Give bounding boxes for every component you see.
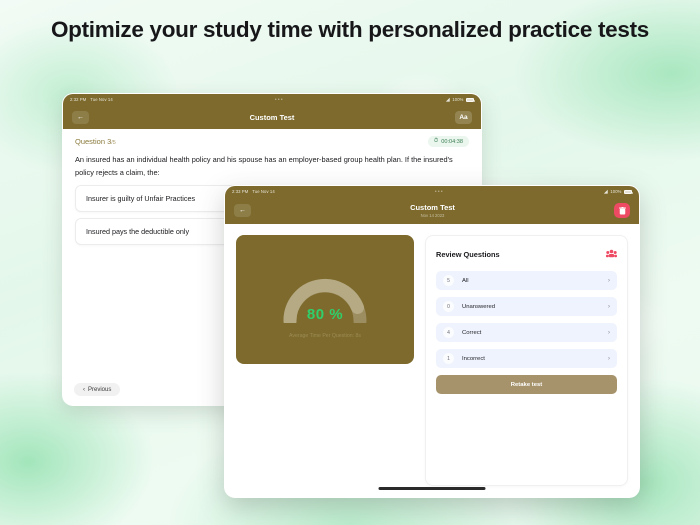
- question-counter-current: Question 3: [75, 137, 111, 146]
- status-bar-left: 2:33 PM Tue Nov 14: [232, 189, 275, 194]
- status-date: Tue Nov 14: [252, 189, 275, 194]
- question-navbar: ← Custom Test Aa: [63, 105, 481, 129]
- clock-icon: ⏱: [434, 138, 438, 145]
- battery-icon: [466, 98, 474, 102]
- review-row-correct[interactable]: 4 Correct ›: [436, 323, 617, 342]
- review-row-unanswered[interactable]: 0 Unanswered ›: [436, 297, 617, 316]
- review-row-all[interactable]: 5 All ›: [436, 271, 617, 290]
- review-questions-card: Review Questions 5 All ›: [425, 235, 628, 486]
- review-row-incorrect[interactable]: 1 Incorrect ›: [436, 349, 617, 368]
- question-text: An insured has an individual health poli…: [75, 154, 469, 178]
- wifi-icon: ◢: [604, 189, 608, 195]
- back-arrow-icon[interactable]: ←: [234, 204, 251, 217]
- chevron-right-icon: ›: [608, 329, 610, 336]
- back-arrow-icon[interactable]: ←: [72, 111, 89, 124]
- review-row-label: All: [462, 278, 608, 284]
- status-dots: •••: [275, 189, 604, 195]
- status-dots: •••: [113, 97, 446, 103]
- status-bar-left: 2:32 PM Tue Nov 14: [70, 97, 113, 102]
- review-row-count: 0: [443, 301, 454, 312]
- home-indicator-results: [379, 487, 486, 490]
- status-time: 2:32 PM: [70, 97, 86, 102]
- results-body: 80 % Average Time Per Question: 8s Revie…: [225, 224, 639, 497]
- wifi-icon: ◢: [446, 97, 450, 103]
- review-questions-title: Review Questions: [436, 250, 500, 259]
- review-row-count: 5: [443, 275, 454, 286]
- battery-icon: [624, 190, 632, 194]
- review-row-label: Correct: [462, 330, 608, 336]
- chevron-right-icon: ›: [608, 277, 610, 284]
- trash-icon[interactable]: [614, 203, 630, 218]
- font-size-button[interactable]: Aa: [455, 111, 472, 124]
- previous-button[interactable]: ‹ Previous: [74, 383, 120, 396]
- score-gauge: 80 %: [279, 271, 371, 323]
- chevron-left-icon: ‹: [83, 387, 85, 393]
- score-percent: 80 %: [279, 306, 371, 323]
- people-group-icon[interactable]: [606, 245, 617, 263]
- review-row-count: 1: [443, 353, 454, 364]
- results-nav-title-wrap: Custom Test Nov 14 2023: [251, 203, 614, 218]
- average-time-caption: Average Time Per Question: 8s: [289, 333, 361, 339]
- page-headline: Optimize your study time with personaliz…: [50, 16, 650, 45]
- battery-percent: 100%: [452, 97, 463, 102]
- question-counter-total: /5: [111, 140, 116, 146]
- question-timer: ⏱ 00:04:38: [428, 136, 469, 147]
- page-title: Custom Test: [89, 113, 455, 122]
- question-header: Question 3/5 ⏱ 00:04:38: [63, 129, 481, 152]
- page-title: Custom Test: [251, 203, 614, 212]
- chevron-right-icon: ›: [608, 355, 610, 362]
- battery-percent: 100%: [610, 189, 621, 194]
- question-nav-title-wrap: Custom Test: [89, 113, 455, 122]
- retake-test-button[interactable]: Retake test: [436, 375, 617, 394]
- status-date: Tue Nov 14: [90, 97, 113, 102]
- chevron-right-icon: ›: [608, 303, 610, 310]
- status-bar-right: ◢ 100%: [446, 97, 474, 103]
- review-row-label: Incorrect: [462, 356, 608, 362]
- status-bar-question: 2:32 PM Tue Nov 14 ••• ◢ 100%: [63, 94, 481, 105]
- timer-value: 00:04:38: [441, 139, 463, 145]
- review-row-label: Unanswered: [462, 304, 608, 310]
- previous-button-label: Previous: [88, 387, 111, 393]
- status-bar-right: ◢ 100%: [604, 189, 632, 195]
- question-counter: Question 3/5: [75, 137, 116, 146]
- status-bar-results: 2:33 PM Tue Nov 14 ••• ◢ 100%: [225, 186, 639, 197]
- status-time: 2:33 PM: [232, 189, 248, 194]
- results-navbar: ← Custom Test Nov 14 2023: [225, 197, 639, 224]
- review-row-count: 4: [443, 327, 454, 338]
- page-subtitle: Nov 14 2023: [251, 213, 614, 218]
- results-tablet: 2:33 PM Tue Nov 14 ••• ◢ 100% ← Custom T…: [224, 185, 640, 498]
- review-questions-header: Review Questions: [436, 245, 617, 263]
- score-gauge-card: 80 % Average Time Per Question: 8s: [236, 235, 414, 364]
